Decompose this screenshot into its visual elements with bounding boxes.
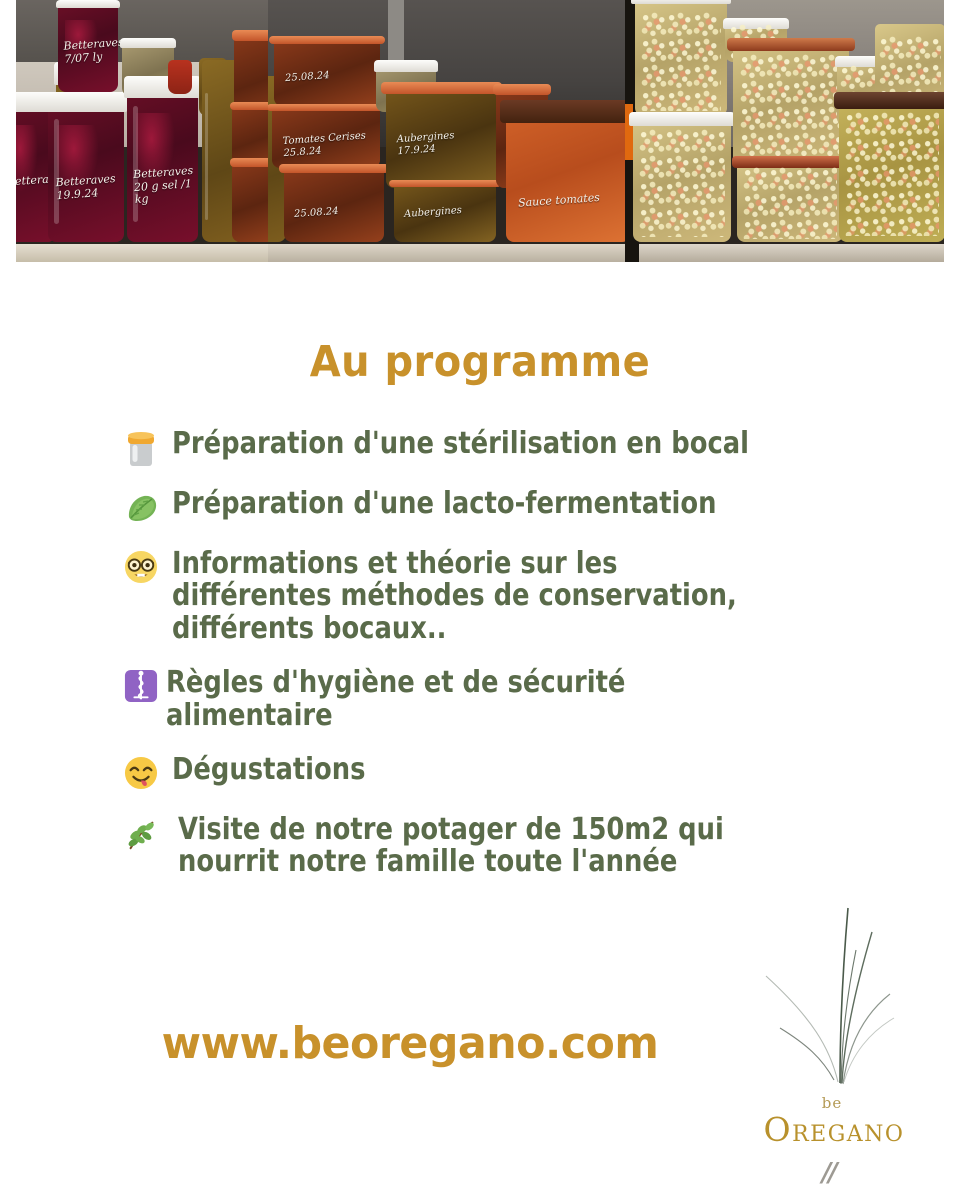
jar	[633, 112, 731, 242]
jar: Aubergines17.9.24	[386, 82, 496, 188]
list-item-label: Informations et théorie sur les différen…	[172, 548, 784, 645]
jar	[232, 158, 268, 242]
grass-blades-icon	[744, 898, 934, 1098]
tomato-aubergine-preserves-photo: 25.08.24 Tomates Cerises25.8.24 25.08.24…	[268, 0, 625, 262]
list-item-label: Préparation d'une lacto-fermentation	[172, 488, 717, 520]
jar: Aubergines	[394, 180, 496, 242]
list-item: Préparation d'une lacto-fermentation	[124, 488, 884, 526]
page-title: Au programme	[34, 337, 927, 387]
leafy-green-icon	[124, 490, 168, 528]
list-item: Visite de notre potager de 150m2 qui nou…	[124, 814, 884, 879]
list-item-label: Dégustations	[172, 754, 365, 786]
logo-mark: //	[744, 1158, 912, 1188]
beetroot-preserves-photo: Betteraves Betteraves7/07 ly Betteraves1…	[16, 0, 268, 262]
list-item-label: Préparation d'une stérilisation en bocal	[172, 428, 749, 460]
list-item-label: Règles d'hygiène et de sécurité alimenta…	[166, 667, 783, 732]
be-oregano-logo: be OREGANO //	[744, 898, 934, 1188]
website-url[interactable]: www.beoregano.com	[12, 1018, 807, 1069]
nerd-face-icon	[124, 550, 168, 588]
jar-icon	[124, 430, 168, 468]
list-item: Dégustations	[124, 754, 884, 792]
jar: Betteraves19.9.24	[48, 92, 124, 242]
program-list: Préparation d'une stérilisation en bocal…	[124, 428, 884, 901]
jar: 25.08.24	[274, 36, 380, 106]
photo-shelf	[268, 244, 625, 262]
jar: 25.08.24	[284, 164, 384, 242]
corn-bean-preserves-photo	[625, 0, 944, 262]
jar	[839, 92, 944, 242]
jar	[733, 38, 849, 164]
logo-brand-text: OREGANO	[744, 1110, 924, 1149]
list-item: Informations et théorie sur les différen…	[124, 548, 884, 645]
jar: Betteraves7/07 ly	[58, 0, 118, 92]
jar	[635, 0, 727, 116]
jar: Betteraves20 g sel /1 kg	[127, 76, 198, 242]
list-item: Règles d'hygiène et de sécurité alimenta…	[124, 667, 884, 732]
photo-shelf	[16, 244, 268, 262]
medical-symbol-icon	[124, 669, 162, 707]
herb-icon	[124, 816, 168, 854]
photo-strip: Betteraves Betteraves7/07 ly Betteraves1…	[16, 0, 944, 262]
jar: Sauce tomates	[506, 100, 625, 242]
logo-brand-rest: REGANO	[792, 1122, 904, 1147]
yum-face-icon	[124, 756, 168, 794]
list-item: Préparation d'une stérilisation en bocal	[124, 428, 884, 466]
list-item-label: Visite de notre potager de 150m2 qui nou…	[178, 814, 785, 879]
jar	[737, 156, 843, 242]
photo-shelf	[625, 244, 944, 262]
jar-lid	[168, 60, 192, 94]
logo-brand-initial: O	[764, 1110, 793, 1149]
jar: Tomates Cerises25.8.24	[272, 104, 380, 168]
